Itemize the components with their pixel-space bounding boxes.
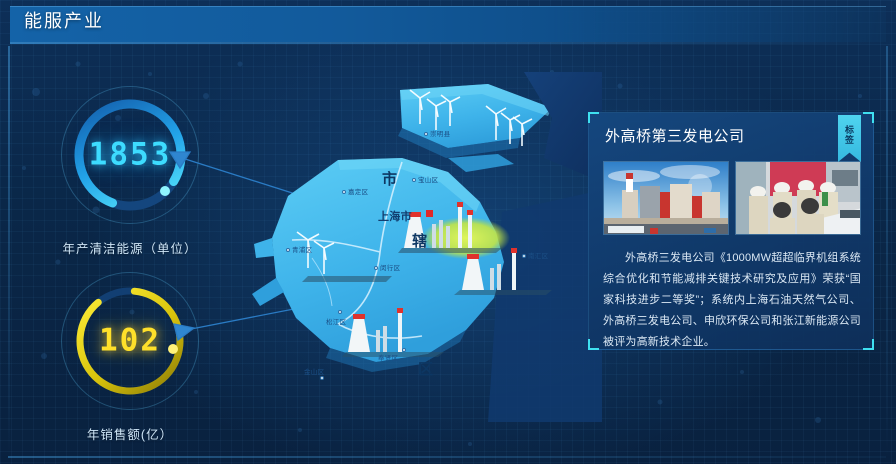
map-label-shanghai: 上海市	[378, 208, 412, 224]
corner-bracket-tl	[588, 112, 599, 123]
ship-icon-west	[302, 276, 392, 282]
map-label-nanhui: 南汇区	[528, 250, 548, 260]
panel-title: 外高桥第三发电公司	[605, 125, 745, 146]
photo-control-room[interactable]	[735, 161, 861, 235]
map-dot-jinshan	[320, 376, 324, 380]
gauge-annual-sales[interactable]: 102 年销售额(亿）	[40, 272, 220, 443]
map-char-shi: 市	[382, 168, 398, 189]
shanghai-map[interactable]: 市 辖 区 上海市 崇明县 宝山区 嘉定区 青浦区 闵行区 松江区 奉贤区 南汇…	[252, 62, 602, 422]
header-underline	[10, 42, 886, 44]
map-dot-nanhui	[522, 254, 526, 258]
corner-bracket-tr	[863, 112, 874, 123]
map-dot-minhang	[374, 266, 378, 270]
map-dot-qingpu	[286, 248, 290, 252]
corner-bracket-bl	[588, 339, 599, 350]
tag-ribbon[interactable]: 标签	[838, 115, 861, 162]
frame-bottom	[8, 456, 886, 458]
photo-power-plant-art	[604, 162, 729, 235]
header-bar	[10, 6, 886, 42]
gauge-ring: 102	[61, 272, 199, 410]
gauge-caption: 年销售额(亿）	[40, 424, 220, 443]
photo-power-plant[interactable]	[603, 161, 729, 235]
map-marker-capital	[426, 210, 433, 217]
gauge-clean-energy[interactable]: 1853 年产清洁能源（单位）	[40, 86, 220, 257]
frame-right	[886, 46, 888, 456]
map-label-jiading: 嘉定区	[348, 186, 368, 196]
map-label-chongming: 崇明县	[430, 128, 450, 138]
gauge-caption: 年产清洁能源（单位）	[40, 238, 220, 257]
map-dot-jiading	[342, 190, 346, 194]
page-title: 能服产业	[24, 7, 104, 33]
map-char-xia: 辖	[412, 230, 428, 251]
corner-bracket-br	[863, 339, 874, 350]
gauge-value: 102	[61, 322, 199, 358]
map-label-fengxian: 奉贤区	[378, 352, 398, 362]
photo-control-room-art	[736, 162, 861, 235]
map-label-songjiang: 松江区	[326, 316, 346, 326]
map-label-minhang: 闵行区	[380, 262, 400, 272]
map-label-jinshan: 金山区	[304, 366, 324, 376]
gauge-ring: 1853	[61, 86, 199, 224]
map-dot-songjiang	[338, 310, 342, 314]
panel-body-text: 外高桥三发电公司《1000MW超超临界机组系统综合优化和节能减排关键技术研究及应…	[603, 248, 861, 353]
frame-left	[8, 46, 10, 456]
map-dot-fengxian	[402, 348, 406, 352]
map-label-baoshan: 宝山区	[418, 174, 438, 184]
dashboard-root: 能服产业 1853 年产清洁能源（单位）	[0, 0, 896, 464]
map-dot-chongming	[424, 132, 428, 136]
map-label-qingpu: 青浦区	[292, 244, 312, 254]
gauge-value: 1853	[61, 136, 199, 172]
map-dot-baoshan	[412, 178, 416, 182]
info-panel[interactable]: 外高桥第三发电公司 标签	[588, 112, 874, 350]
map-char-qu: 区	[418, 358, 434, 379]
tag-ribbon-label: 标签	[843, 125, 856, 145]
